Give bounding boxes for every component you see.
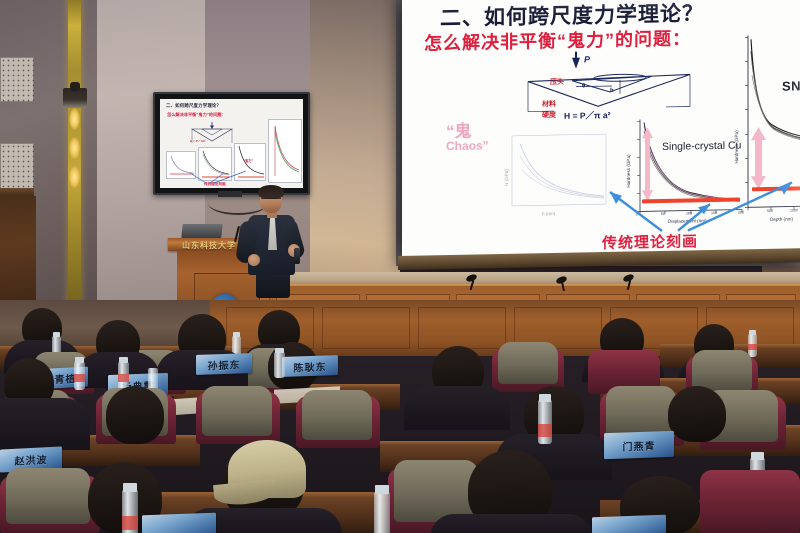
speaker-hair bbox=[258, 185, 284, 199]
spotlight-fixture-icon bbox=[63, 88, 87, 108]
mini-arrows bbox=[180, 165, 250, 185]
bottle-cap bbox=[75, 357, 84, 363]
wood-wall-panel bbox=[418, 307, 506, 349]
nameplate: 陈耿东 bbox=[282, 355, 338, 377]
water-bottle bbox=[374, 492, 390, 533]
load-label: P bbox=[584, 54, 590, 64]
audience-head bbox=[668, 386, 726, 442]
wood-wall-panel bbox=[322, 307, 410, 349]
audience-area: 李青植 杨典霞 孙振东 陈耿东 bbox=[0, 300, 800, 533]
bottle-label bbox=[74, 374, 85, 382]
seat-headrest bbox=[498, 342, 558, 384]
gap-arrow-head-up bbox=[749, 127, 769, 141]
speaker-legs bbox=[256, 272, 290, 298]
podium-institution-text: 山东科技大学 bbox=[182, 240, 236, 251]
projection-screen: 二、如何跨尺度力学理论？ 怎么解决非平衡“鬼力”的问题： P 压头 材料 硬度 … bbox=[402, 0, 800, 262]
nameplate: 孙振东 bbox=[196, 353, 252, 375]
audience-shoulders bbox=[430, 514, 592, 533]
chart-faint-ylabel: H (GPa) bbox=[504, 169, 509, 186]
bottle-cap bbox=[233, 332, 240, 337]
strip-lamp-icon bbox=[69, 108, 80, 130]
confidence-monitor-screen: 二、如何跨尺度力学理论？ 怎么解决非平衡“鬼力”的问题： H = P／πa² bbox=[160, 99, 303, 188]
bottle-cap bbox=[275, 348, 284, 353]
seat-headrest bbox=[302, 390, 372, 440]
audience-seat bbox=[700, 470, 800, 533]
gold-light-strip bbox=[68, 0, 81, 318]
bottle-cap bbox=[119, 357, 128, 363]
glasses-icon bbox=[261, 198, 281, 203]
bottle-cap bbox=[123, 483, 137, 492]
hardness-equation: H = P／π a² bbox=[564, 109, 610, 122]
strip-lamp-icon bbox=[69, 166, 80, 188]
bottle-label bbox=[122, 516, 138, 530]
water-bottle bbox=[538, 400, 552, 444]
strip-lamp-icon bbox=[69, 137, 80, 159]
seat-headrest bbox=[394, 460, 478, 522]
bottle-label bbox=[118, 374, 129, 382]
acoustic-panel bbox=[0, 143, 34, 190]
mini-slide-title: 二、如何跨尺度力学理论？ bbox=[166, 103, 221, 109]
water-bottle bbox=[274, 352, 285, 378]
slide-subtitle: 怎么解决非平衡“鬼力”的问题： bbox=[424, 24, 691, 55]
traditional-theory-arrows bbox=[592, 174, 800, 238]
nameplate bbox=[592, 515, 666, 533]
chart-sno-title: SNO bbox=[782, 78, 800, 94]
chart-faint-xlabel: h (nm) bbox=[542, 211, 555, 216]
speaker-presenter bbox=[236, 188, 310, 298]
gap-arrow bbox=[755, 137, 762, 179]
seat-headrest bbox=[6, 468, 90, 524]
material-label: 材料 bbox=[542, 99, 556, 109]
audience-shoulders bbox=[404, 386, 510, 430]
mini-chart-right bbox=[268, 119, 302, 183]
chart-sno-ylabel: Hardness (GPa) bbox=[734, 130, 739, 163]
wall-panel-beige bbox=[310, 0, 400, 300]
bottle-cap bbox=[749, 330, 756, 335]
angle-label: θ bbox=[582, 83, 585, 89]
lecture-hall-photo: 二、如何跨尺度力学理论？ 怎么解决非平衡“鬼力”的问题： H = P／πa² bbox=[0, 0, 800, 533]
presentation-clicker[interactable] bbox=[294, 248, 300, 264]
bottle-cap bbox=[53, 332, 60, 337]
audience-shoulders bbox=[0, 398, 90, 450]
bottle-cap bbox=[539, 394, 551, 402]
chart-cu-title: Single-crystal Cu bbox=[662, 139, 741, 153]
nameplate bbox=[142, 513, 216, 533]
mini-hardness-label: H = P／πa² bbox=[190, 139, 206, 143]
audience-head bbox=[106, 386, 164, 444]
hardness-label: 硬度 bbox=[542, 110, 556, 120]
load-arrow-icon bbox=[572, 58, 580, 69]
speaker-left-hand bbox=[248, 254, 260, 266]
bottle-label bbox=[538, 424, 552, 437]
indenter-label: 压头 bbox=[550, 77, 564, 87]
mini-slide-subtitle: 怎么解决非平衡“鬼力”的问题： bbox=[167, 112, 226, 118]
depth-label: h bbox=[610, 88, 614, 94]
bottle-cap bbox=[375, 485, 389, 494]
acoustic-panel bbox=[0, 57, 34, 102]
nameplate: 门燕青 bbox=[604, 431, 674, 459]
bottle-cap bbox=[751, 452, 764, 460]
gap-arrow-head-up bbox=[640, 127, 656, 139]
bottle-label bbox=[748, 344, 757, 350]
seat-headrest bbox=[202, 386, 272, 436]
presenter-laptop[interactable] bbox=[181, 224, 222, 238]
mini-ghost-label: “鬼力” bbox=[243, 158, 253, 163]
ghost-annotation-en: Chaos” bbox=[446, 138, 489, 153]
confidence-monitor[interactable]: 二、如何跨尺度力学理论？ 怎么解决非平衡“鬼力”的问题： H = P／πa² bbox=[153, 92, 310, 195]
